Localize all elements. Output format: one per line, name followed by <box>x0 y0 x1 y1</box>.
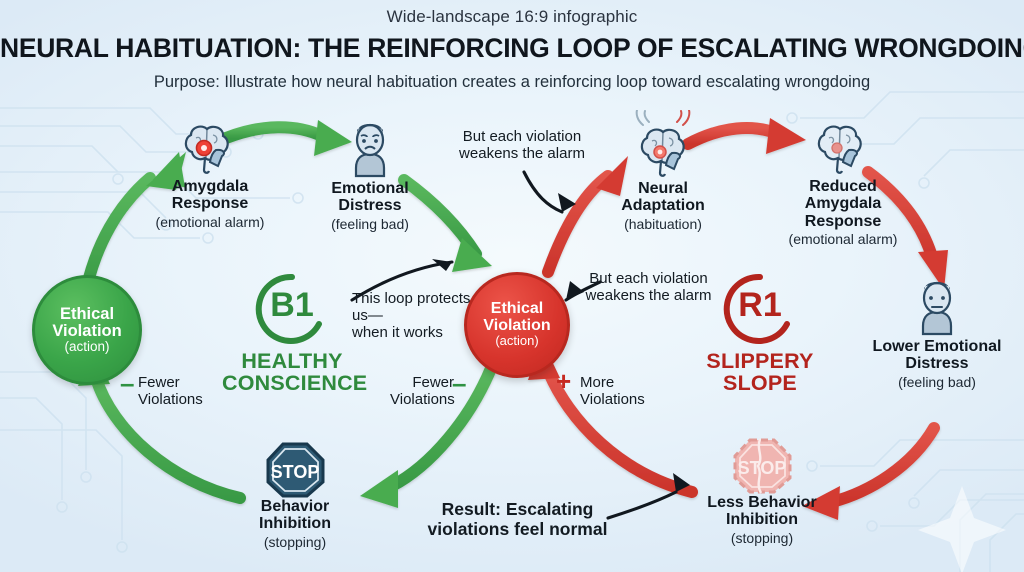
ev-center-sub: (action) <box>495 334 538 348</box>
lower-emotional-distress-sub: (feeling bad) <box>852 375 1022 390</box>
node-neural-adaptation[interactable]: Neural Adaptation (habituation) <box>578 124 748 232</box>
node-behavior-inhibition[interactable]: STOP Behavior Inhibition (stopping) <box>215 440 375 550</box>
annotation-weakens-alarm-top: But each violation weakens the alarm <box>442 128 602 162</box>
page-title: NEURAL HABITUATION: THE REINFORCING LOOP… <box>0 33 1024 64</box>
polarity-sign-more-center: + <box>556 368 571 394</box>
node-ethical-violation-center[interactable]: Ethical Violation (action) <box>464 272 570 378</box>
reduced-amygdala-sub: (emotional alarm) <box>748 232 938 247</box>
node-reduced-amygdala-response[interactable]: Reduced Amygdala Response (emotional ala… <box>748 126 938 247</box>
ev-left-sub: (action) <box>64 340 109 355</box>
brain-alarm-icon <box>180 122 240 176</box>
polarity-label-fewer-left: Fewer Violations <box>138 374 230 408</box>
ev-center-line2: Violation <box>483 318 550 334</box>
emotional-distress-sub: (feeling bad) <box>290 217 450 232</box>
stop-sign-faded-label: STOP <box>738 458 787 478</box>
r1-name: SLIPPERY SLOPE <box>690 350 830 395</box>
stop-sign-faded-icon: STOP <box>730 436 794 494</box>
behavior-inhibition-sub: (stopping) <box>215 535 375 550</box>
r1-id: R1 <box>723 288 797 322</box>
behavior-inhibition-title: Behavior Inhibition <box>215 498 375 533</box>
header-kicker: Wide-landscape 16:9 infographic <box>0 7 1024 27</box>
node-amygdala-response[interactable]: Amygdala Response (emotional alarm) <box>120 126 300 230</box>
ev-left-line2: Violation <box>52 323 121 340</box>
header: Wide-landscape 16:9 infographic NEURAL H… <box>0 0 1024 92</box>
neural-adaptation-sub: (habituation) <box>578 217 748 232</box>
node-lower-emotional-distress[interactable]: Lower Emotional Distress (feeling bad) <box>852 278 1022 390</box>
polarity-sign-fewer-left: – <box>120 370 134 396</box>
amygdala-sub: (emotional alarm) <box>120 215 300 230</box>
b1-ring: B1 <box>255 272 329 346</box>
amygdala-title: Amygdala Response <box>120 178 300 213</box>
less-behavior-inhibition-title: Less Behavior Inhibition <box>672 494 852 529</box>
node-emotional-distress[interactable]: Emotional Distress (feeling bad) <box>290 120 450 232</box>
less-behavior-inhibition-sub: (stopping) <box>672 531 852 546</box>
node-less-behavior-inhibition[interactable]: STOP Less Behavior Inhibition (stopping) <box>672 436 852 546</box>
brain-waves-icon <box>633 110 695 180</box>
header-subtitle: Purpose: Illustrate how neural habituati… <box>0 73 1024 92</box>
stop-sign-label: STOP <box>271 462 320 482</box>
polarity-label-more-center: More Violations <box>580 374 666 408</box>
annotation-loop-protects: This loop protects us— when it works <box>352 290 477 341</box>
b1-name: HEALTHY CONSCIENCE <box>222 350 362 395</box>
brain-faded-icon <box>813 122 873 176</box>
r1-ring: R1 <box>723 272 797 346</box>
loop-badge-b1: B1 HEALTHY CONSCIENCE <box>222 272 362 395</box>
stop-sign-icon: STOP <box>263 440 327 498</box>
infographic-canvas: Wide-landscape 16:9 infographic NEURAL H… <box>0 0 1024 572</box>
ev-center-line1: Ethical <box>491 301 543 317</box>
neutral-person-icon <box>907 276 967 338</box>
lower-emotional-distress-title: Lower Emotional Distress <box>852 338 1022 373</box>
annotation-weakens-alarm-mid: But each violation weakens the alarm <box>566 270 731 304</box>
emotional-distress-title: Emotional Distress <box>290 180 450 215</box>
sad-person-icon <box>340 118 400 180</box>
neural-adaptation-title: Neural Adaptation <box>578 180 748 215</box>
reduced-amygdala-title: Reduced Amygdala Response <box>748 178 938 230</box>
polarity-label-fewer-center: Fewer Violations <box>390 374 454 408</box>
ev-left-line1: Ethical <box>60 306 114 323</box>
b1-id: B1 <box>255 288 329 322</box>
annotation-result: Result: Escalating violations feel norma… <box>410 500 625 540</box>
